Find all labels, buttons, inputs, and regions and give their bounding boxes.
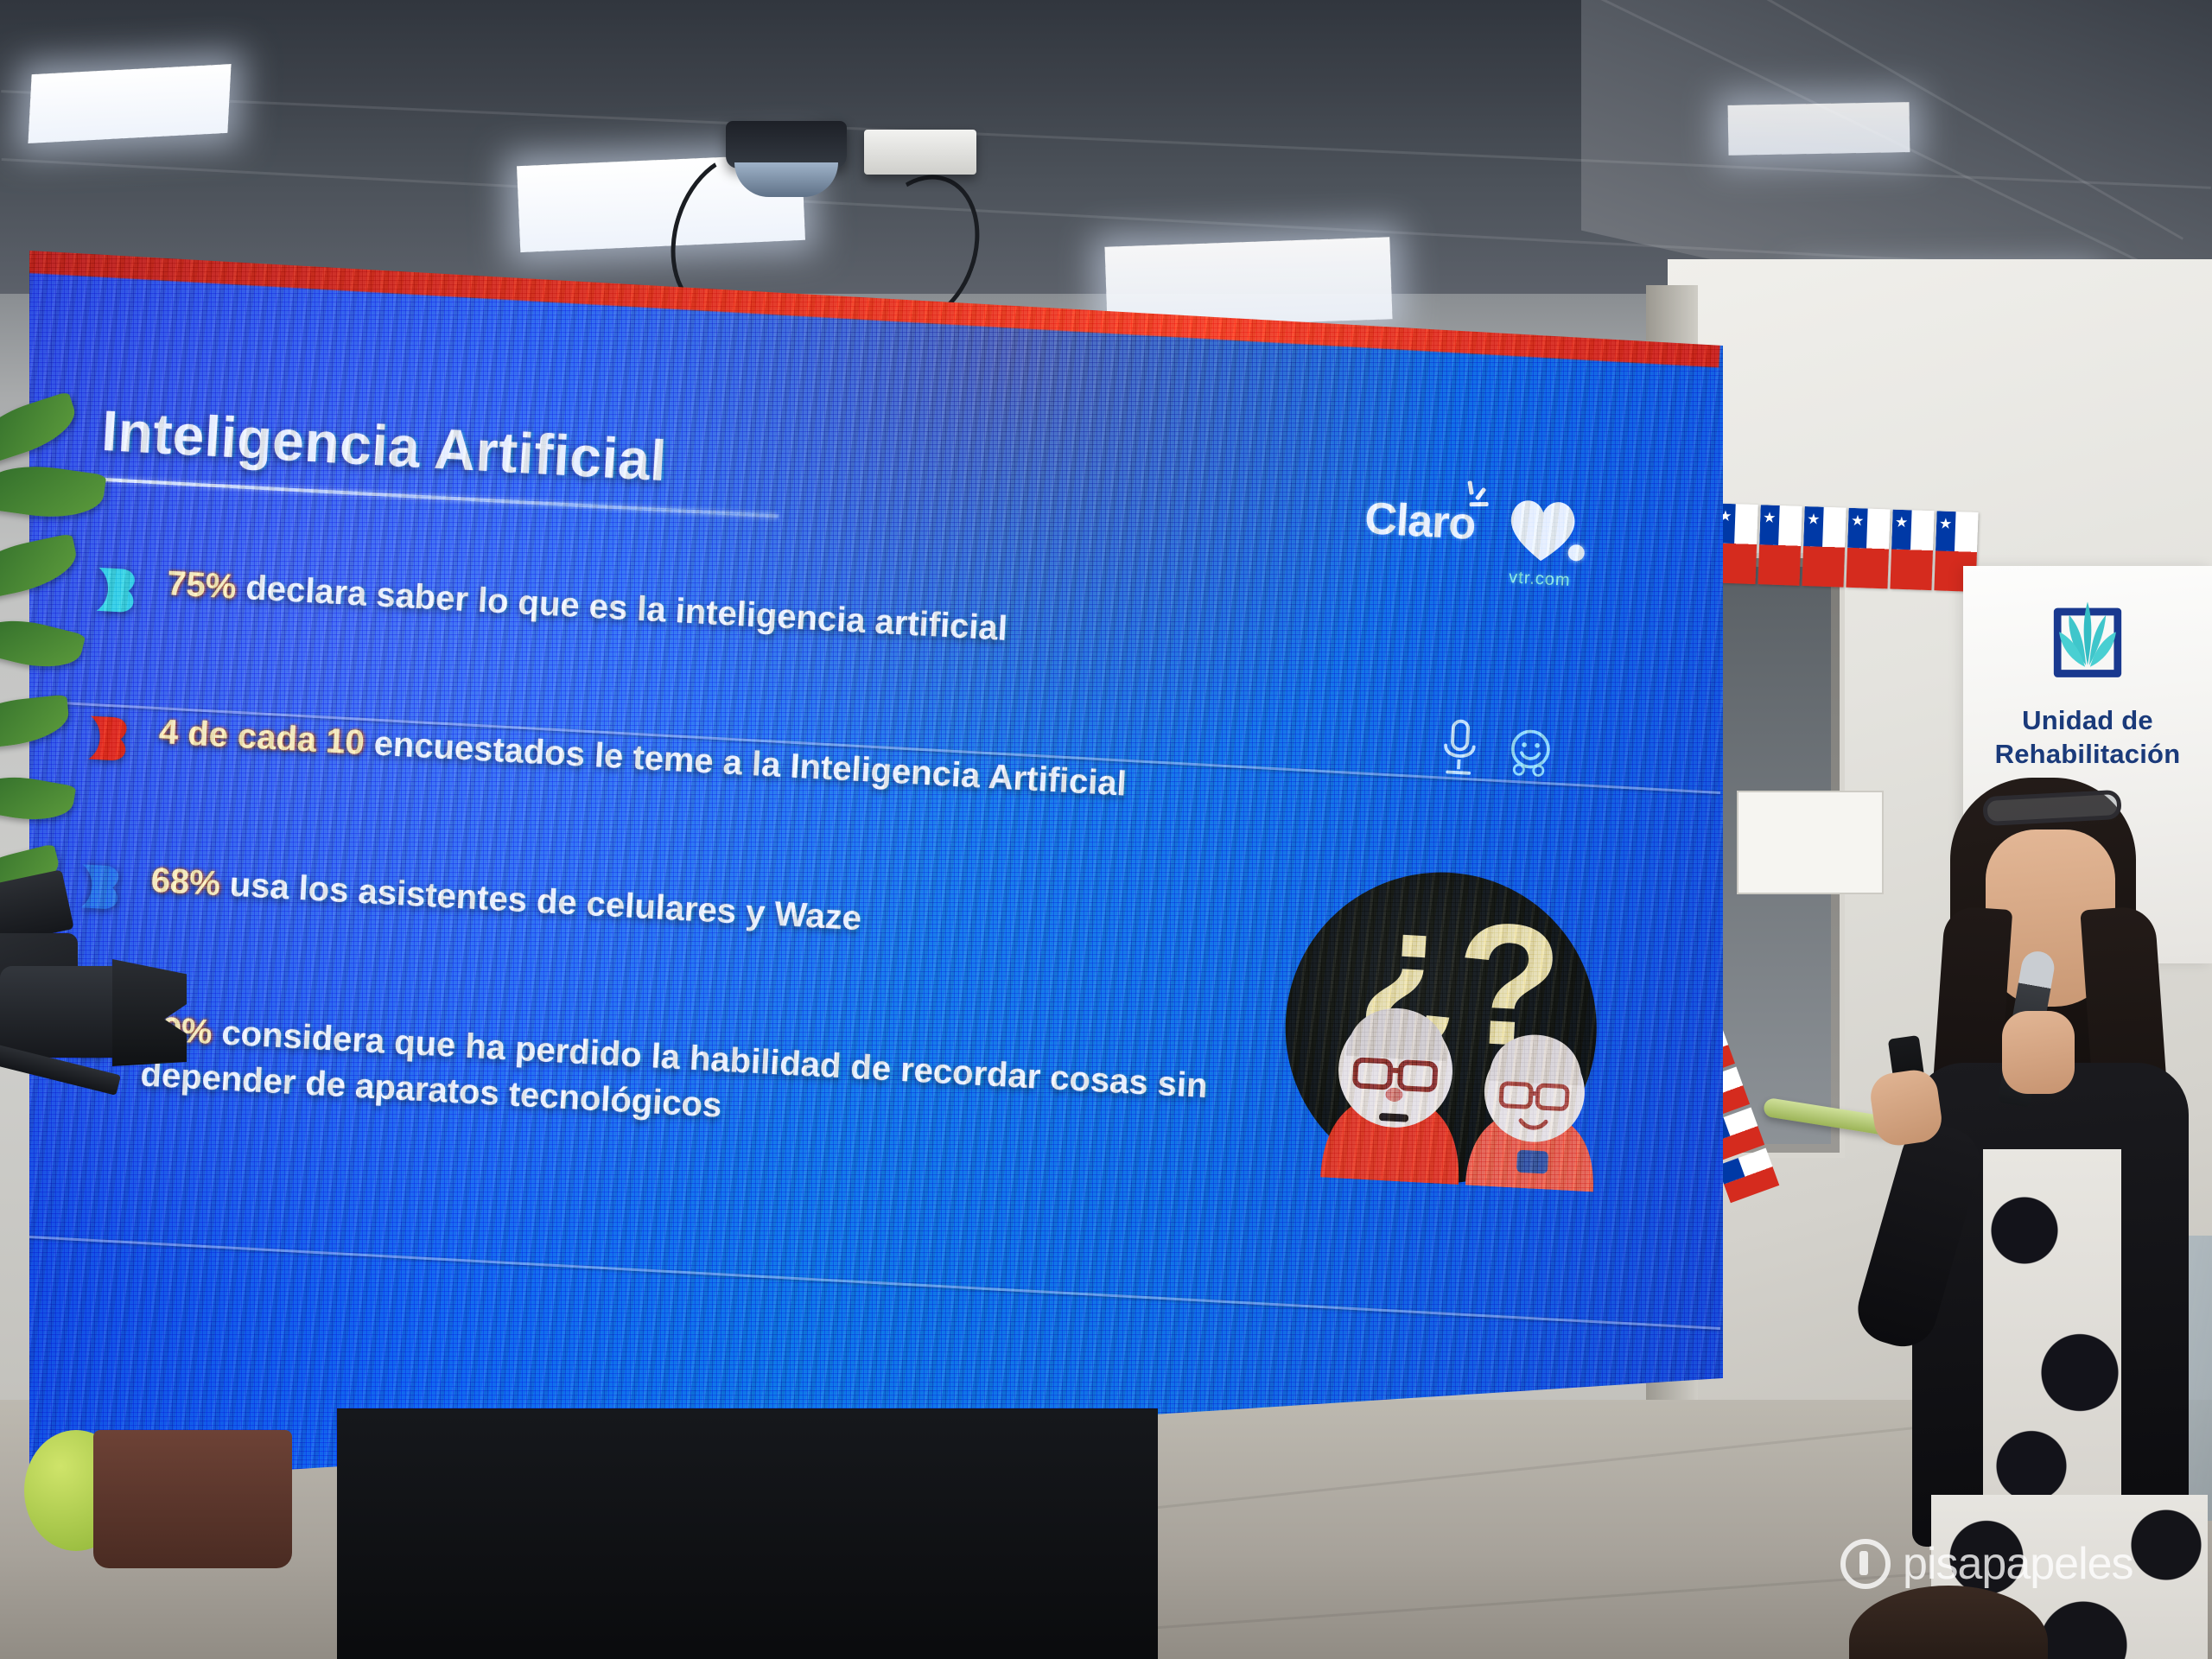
microphone-icon (1437, 716, 1482, 785)
chilean-flag-bunting (1713, 503, 1993, 594)
slide-content: Inteligencia Artificial Claro (29, 251, 1720, 1486)
waze-smiley-icon (1504, 726, 1555, 783)
ceiling-projector (726, 121, 847, 168)
bullet-body: usa los asistentes de celulares y Waze (219, 865, 863, 938)
chilean-flag (1758, 505, 1802, 586)
vtr-dot (1567, 544, 1585, 562)
plant-leaf (0, 695, 71, 751)
female-presenter (1879, 778, 2212, 1659)
ceiling-device-box (864, 130, 976, 175)
led-video-wall: Inteligencia Artificial Claro (29, 251, 1723, 1486)
presenter-right-hand (2002, 1011, 2075, 1094)
claro-logo: Claro (1363, 479, 1478, 550)
ceiling-light-panel (28, 64, 231, 143)
plant-pot (93, 1430, 292, 1568)
watermark: pisapapeles (1840, 1538, 2133, 1590)
plant-leaf (0, 533, 81, 602)
bullet-body: declara saber lo que es la inteligencia … (235, 569, 1008, 648)
watermark-text: pisapapeles (1903, 1538, 2133, 1590)
bullet-text: 59% considera que ha perdido la habilida… (139, 1006, 1276, 1158)
dark-stage-block (337, 1408, 1158, 1659)
chilean-flag (1890, 510, 1934, 591)
bullet-body: encuestados le teme a la Inteligencia Ar… (364, 724, 1128, 804)
elderly-couple-illustration: ¿ ? (1268, 829, 1632, 1193)
ceiling-light-panel (1728, 102, 1910, 156)
pisapapeles-circle-logo-icon (1840, 1539, 1891, 1589)
bullet-text: 75% declara saber lo que es la inteligen… (166, 561, 1008, 652)
plant-leaf (0, 610, 86, 677)
bullet-text: 4 de cada 10 encuestados le teme a la In… (158, 709, 1128, 807)
bullet-item: 75% declara saber lo que es la inteligen… (89, 556, 1300, 681)
vtr-logo: vtr.com (1501, 486, 1582, 592)
slide-logos: Claro (1362, 479, 1583, 591)
sign-title-line1: Unidad de (1963, 704, 2212, 738)
slide-title-underline (97, 478, 779, 518)
sign-title-line2: Rehabilitación (1963, 738, 2212, 772)
bullet-item: 68% usa los asistentes de celulares y Wa… (73, 854, 1285, 978)
chilean-flag (1846, 508, 1890, 589)
slide-bullet-list: 75% declara saber lo que es la inteligen… (59, 556, 1300, 1248)
bullet-highlight: 68% (150, 861, 221, 903)
slide-title: Inteligencia Artificial (100, 397, 669, 493)
bullet-text: 68% usa los asistentes de celulares y Wa… (149, 858, 862, 942)
camera-lens-hood (112, 959, 187, 1066)
bullet-highlight: 75% (166, 564, 237, 606)
bullet-highlight: 4 de cada 10 (158, 713, 365, 762)
presenter-left-hand (1868, 1067, 1945, 1148)
plant-leaf (0, 769, 76, 827)
dslr-camera (0, 933, 190, 1158)
chilean-flag (1802, 506, 1846, 588)
vtr-url-text: vtr.com (1501, 568, 1578, 592)
bullet-item: 59% considera que ha perdido la habilida… (63, 1002, 1276, 1159)
vtr-heart-icon (1503, 490, 1582, 565)
claro-starburst-icon (1450, 480, 1493, 517)
bullet-body: considera que ha perdido la habilidad de… (139, 1014, 1208, 1125)
presentation-photo-scene: Unidad de Rehabilitación Inteligencia Ar… (0, 0, 2212, 1659)
bullet-item: 4 de cada 10 encuestados le teme a la In… (81, 705, 1293, 829)
wall-poster (1737, 791, 1884, 894)
plant-leaf (0, 459, 106, 525)
leaf-plant-logo-icon (2037, 587, 2138, 687)
